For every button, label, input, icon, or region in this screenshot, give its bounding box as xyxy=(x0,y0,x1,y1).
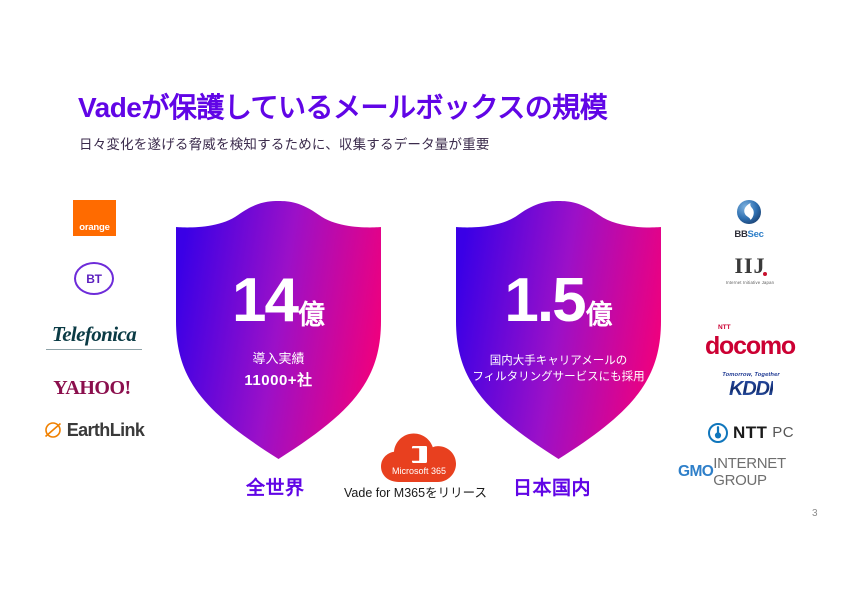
logo-nttpc-label-ntt: NTT xyxy=(733,423,767,443)
logo-gmo-label-rest: INTERNET GROUP xyxy=(713,455,818,489)
logo-bbsec-label-bb: BB xyxy=(734,229,747,240)
logo-docomo-mark: NTT docomo xyxy=(705,332,795,361)
microsoft-365-cloud-label: Microsoft 365 xyxy=(392,466,446,476)
logo-yahoo: YAHOO! xyxy=(49,377,135,399)
microsoft-365-caption: Vade for M365をリリース xyxy=(344,482,487,501)
logo-iij-label: IIJ xyxy=(734,253,765,278)
logo-iij-tagline: Internet Initiative Japan xyxy=(726,280,774,285)
logo-docomo: NTT docomo xyxy=(700,331,800,361)
logo-bt: BT xyxy=(74,262,114,295)
logo-nttpc-label-pc: PC xyxy=(772,424,794,441)
logo-kddi-tagline: Tomorrow, Together xyxy=(722,372,780,378)
slide-canvas: Vadeが保護しているメールボックスの規模 日々変化を遂げる脅威を検知するために… xyxy=(0,0,842,595)
logo-orange: orange xyxy=(73,200,116,236)
logo-kddi: Tomorrow, Together KDDI xyxy=(710,369,792,401)
logo-telefonica: Telefonica xyxy=(44,320,144,352)
shield-shape-global xyxy=(176,201,381,459)
logo-telefonica-underline xyxy=(46,349,142,350)
shield-shape-japan xyxy=(456,201,661,459)
page-number: 3 xyxy=(812,508,818,519)
logo-iij: IIJ Internet Initiative Japan xyxy=(714,253,786,287)
bbsec-sphere-icon xyxy=(734,198,764,228)
shield-japan-caption: 日本国内 xyxy=(513,473,591,500)
logo-gmo: GMO INTERNET GROUP xyxy=(678,462,818,482)
logo-earthlink: EarthLink xyxy=(31,417,156,443)
logo-bbsec-label-sec: Sec xyxy=(748,229,764,240)
earthlink-planet-icon xyxy=(43,420,63,440)
logo-yahoo-label: YAHOO! xyxy=(53,377,130,400)
shield-global-caption: 全世界 xyxy=(246,473,305,500)
logo-docomo-label: docomo xyxy=(705,332,795,360)
shield-japan: 1.5億 国内大手キャリアメールの フィルタリングサービスにも採用 xyxy=(456,201,661,459)
logo-bbsec-label: BBSec xyxy=(734,229,763,240)
logo-nttpc: NTT PC xyxy=(706,420,796,445)
microsoft-365-cloud-icon: Microsoft 365 xyxy=(378,430,461,485)
logo-earthlink-label: EarthLink xyxy=(67,420,145,441)
logo-kddi-label: KDDI xyxy=(729,379,773,399)
logo-bt-label: BT xyxy=(86,272,101,286)
nttpc-circle-icon xyxy=(708,423,728,443)
logo-bbsec: BBSec xyxy=(722,196,776,241)
logo-gmo-label-gmo: GMO xyxy=(678,463,713,481)
logo-docomo-ntt: NTT xyxy=(718,324,731,331)
page-subtitle: 日々変化を遂げる脅威を検知するために、収集するデータ量が重要 xyxy=(79,133,490,153)
page-title: Vadeが保護しているメールボックスの規模 xyxy=(78,93,607,124)
logo-bt-ring: BT xyxy=(74,262,114,295)
shield-global: 14億 導入実績 11000+社 xyxy=(176,201,381,459)
logo-iij-mark: IIJ xyxy=(734,255,765,277)
logo-telefonica-label: Telefonica xyxy=(52,322,136,347)
logo-iij-dot xyxy=(763,272,767,276)
logo-orange-label: orange xyxy=(79,222,109,236)
